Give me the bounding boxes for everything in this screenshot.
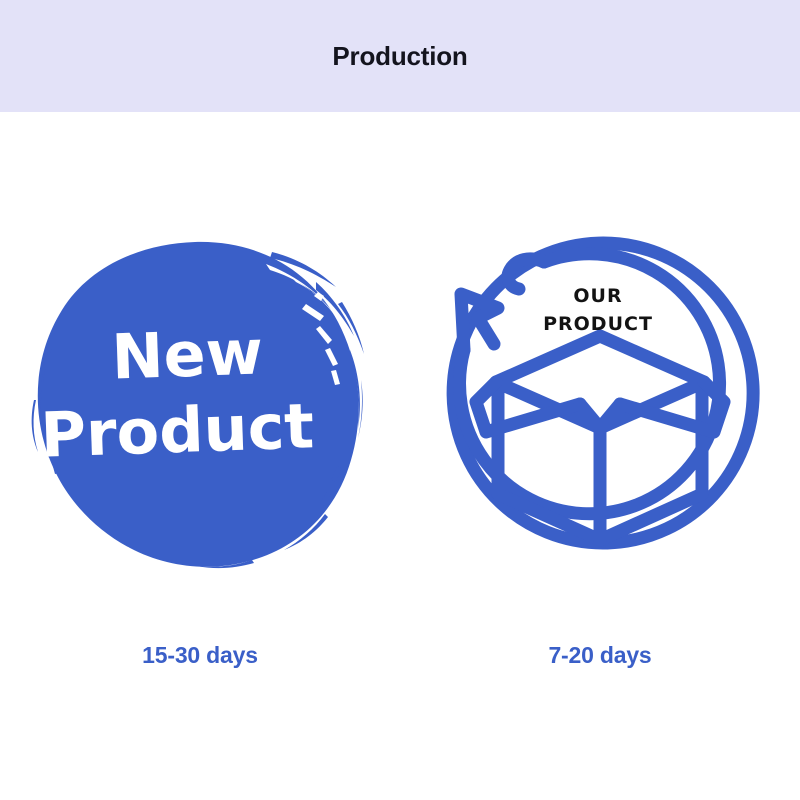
content-area: New Product 15-30 days <box>0 112 800 800</box>
our-product-icon: OUR PRODUCT <box>420 232 780 572</box>
caption-new-product: 15-30 days <box>0 642 400 669</box>
icon-label-line-1: OUR <box>573 285 622 307</box>
production-comparison-page: Production <box>0 0 800 800</box>
open-box-refresh-icon: OUR PRODUCT <box>420 232 780 572</box>
badge-line-2: Product <box>39 389 315 472</box>
page-title: Production <box>332 41 467 72</box>
page-header: Production <box>0 0 800 112</box>
arc-hook <box>508 259 544 289</box>
badge-line-1: New <box>110 315 264 393</box>
caption-our-product: 7-20 days <box>400 642 800 669</box>
column-new-product: New Product 15-30 days <box>0 112 400 800</box>
new-product-badge: New Product <box>20 230 380 570</box>
column-our-product: OUR PRODUCT 7-20 days <box>400 112 800 800</box>
brush-circle-icon: New Product <box>20 230 380 570</box>
icon-label-line-2: PRODUCT <box>543 313 653 335</box>
arrow-head <box>461 294 498 350</box>
